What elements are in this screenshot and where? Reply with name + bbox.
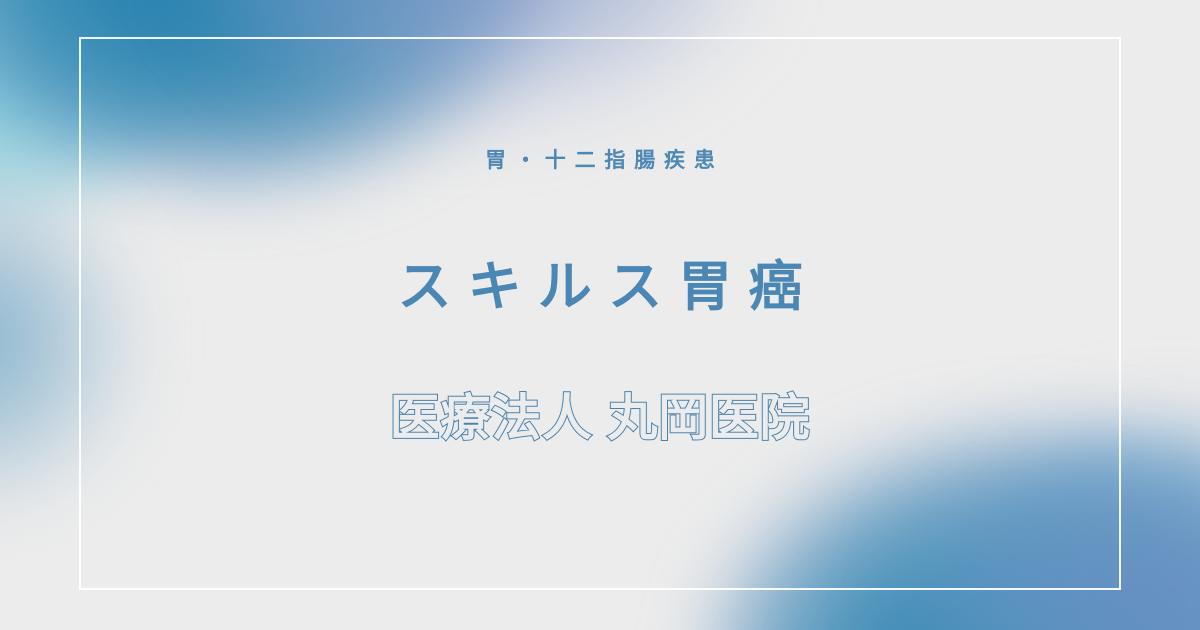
- page-title: スキルス胃癌: [381, 257, 818, 317]
- ogp-title-card: 胃・十二指腸疾患 スキルス胃癌 医療法人 丸岡医院: [0, 0, 1200, 630]
- clinic-name: 医療法人 丸岡医院: [390, 390, 811, 448]
- card-content: 胃・十二指腸疾患 スキルス胃癌 医療法人 丸岡医院: [0, 0, 1200, 630]
- category-label: 胃・十二指腸疾患: [476, 148, 723, 173]
